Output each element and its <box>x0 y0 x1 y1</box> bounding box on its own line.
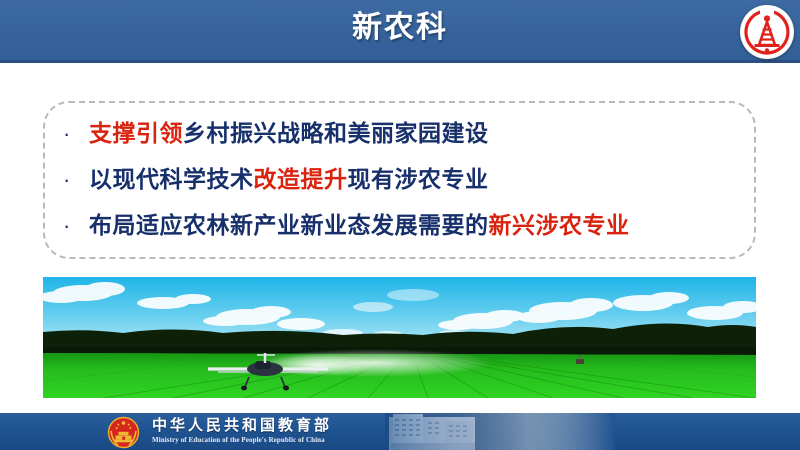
university-seal-logo <box>740 5 794 59</box>
bullet-marker-icon: · <box>57 203 89 249</box>
footer-organization-cn: 中华人民共和国教育部 <box>152 416 412 435</box>
bullet-text: 布局适应农林新产业新业态发展需要的新兴涉农专业 <box>89 203 630 249</box>
bullet-marker-icon: · <box>57 157 89 203</box>
footer-organization-en: Ministry of Education of the People's Re… <box>152 435 412 446</box>
crop-duster-spraying-green-field-photo <box>43 277 756 398</box>
bullet-text: 支撑引领乡村振兴战略和美丽家园建设 <box>89 111 489 157</box>
slide-footer: 中华人民共和国教育部 Ministry of Education of the … <box>0 413 800 450</box>
bullet-segment-emphasis: 改造提升 <box>254 167 348 193</box>
list-item: · 支撑引领乡村振兴战略和美丽家园建设 <box>57 111 750 157</box>
national-emblem-icon <box>107 416 140 449</box>
page-title: 新农科 <box>0 6 800 50</box>
bullet-segment: 现有涉农专业 <box>348 167 489 193</box>
list-item: · 以现代科学技术改造提升现有涉农专业 <box>57 157 750 203</box>
list-item: · 布局适应农林新产业新业态发展需要的新兴涉农专业 <box>57 203 750 249</box>
bullet-text: 以现代科学技术改造提升现有涉农专业 <box>89 157 489 203</box>
footer-organization: 中华人民共和国教育部 Ministry of Education of the … <box>152 416 412 446</box>
bullet-list: · 支撑引领乡村振兴战略和美丽家园建设 · 以现代科学技术改造提升现有涉农专业 … <box>43 101 756 259</box>
ministry-building-photo <box>385 413 615 450</box>
bullet-segment-emphasis: 新兴涉农专业 <box>489 213 630 239</box>
slide: 新农科 · 支撑引领乡村振兴战略和 <box>0 0 800 450</box>
bullet-segment-emphasis: 支撑引领 <box>89 121 183 147</box>
bullet-segment: 以现代科学技术 <box>89 167 254 193</box>
slide-header: 新农科 <box>0 0 800 63</box>
bullet-segment: 乡村振兴战略和美丽家园建设 <box>183 121 489 147</box>
bullet-marker-icon: · <box>57 111 89 157</box>
bullet-segment: 布局适应农林新产业新业态发展需要的 <box>89 213 489 239</box>
